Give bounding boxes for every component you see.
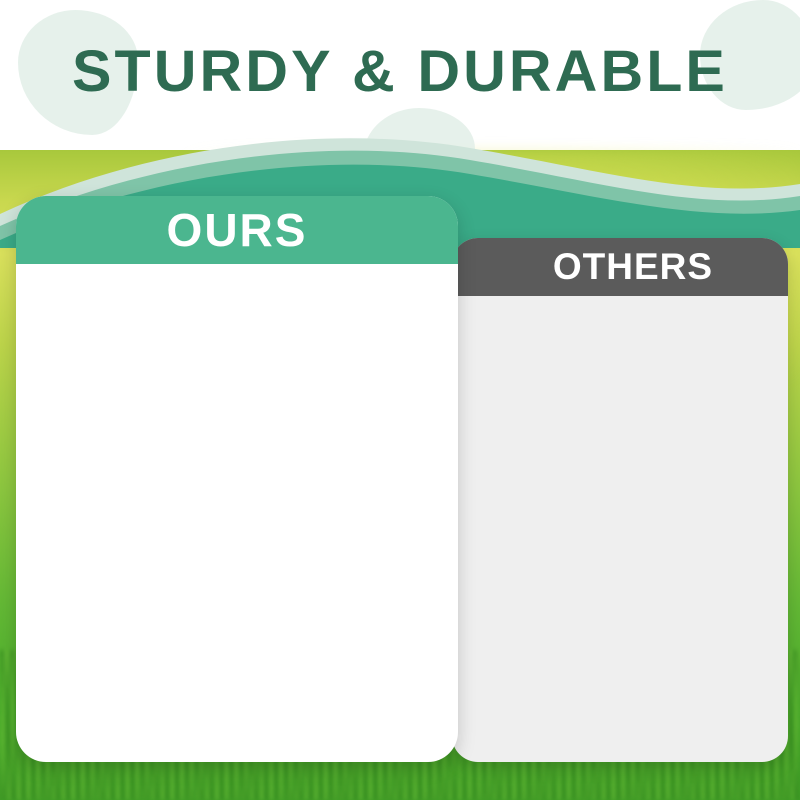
infographic-canvas: STURDY & DURABLE OTHERS xyxy=(0,0,800,800)
others-heading: OTHERS xyxy=(553,246,713,288)
ours-panel-header: OURS xyxy=(16,196,458,264)
ours-panel: OURS xyxy=(16,196,458,762)
ours-heading: OURS xyxy=(167,203,308,257)
others-panel: OTHERS xyxy=(452,238,788,762)
page-title: STURDY & DURABLE xyxy=(0,38,800,105)
others-panel-header: OTHERS xyxy=(452,238,788,296)
